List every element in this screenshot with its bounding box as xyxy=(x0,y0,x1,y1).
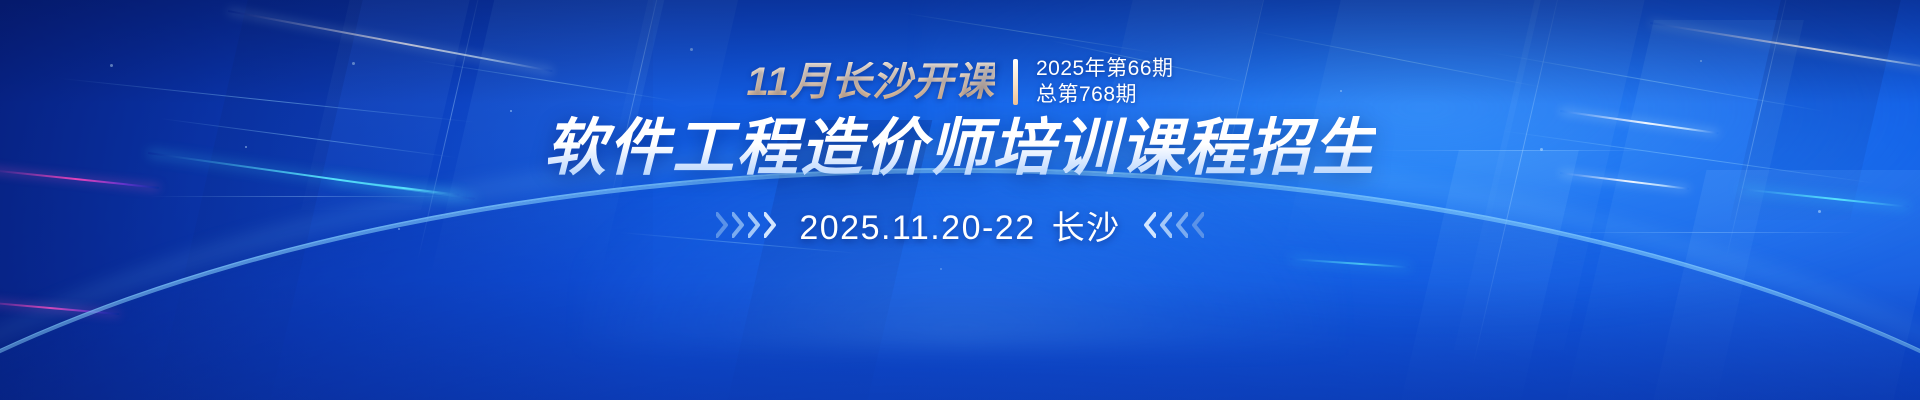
eyebrow-session-numbers: 2025年第66期 总第768期 xyxy=(1036,56,1174,107)
date-text-group: 2025.11.20-22 长沙 xyxy=(799,201,1120,249)
course-date: 2025.11.20-22 xyxy=(799,209,1035,248)
chevron-right-icon xyxy=(748,212,761,238)
date-location-row: »»»» 2025.11.20-22 长沙 «««« xyxy=(716,201,1203,249)
chevron-left-icon xyxy=(1191,212,1204,238)
chevron-right-icon xyxy=(716,212,729,238)
course-city: 长沙 xyxy=(1052,201,1121,249)
course-promo-banner: 11月长沙开课 2025年第66期 总第768期 软件工程造价师培训课程招生 xyxy=(0,0,1920,400)
eyebrow-divider xyxy=(1013,59,1018,105)
chevron-right-icon xyxy=(732,212,745,238)
eyebrow-year-session: 2025年第66期 xyxy=(1036,56,1174,82)
chevron-left-icon xyxy=(1159,212,1172,238)
eyebrow-total-session: 总第768期 xyxy=(1036,82,1174,108)
eyebrow-row: 11月长沙开课 2025年第66期 总第768期 xyxy=(746,56,1173,108)
chevron-left-icon xyxy=(1143,212,1156,238)
chevron-right-group: »»»» xyxy=(716,212,777,238)
banner-content: 11月长沙开课 2025年第66期 总第768期 软件工程造价师培训课程招生 xyxy=(0,0,1920,400)
chevron-right-icon xyxy=(764,212,777,238)
eyebrow-session-title: 11月长沙开课 xyxy=(746,62,995,102)
chevron-left-group: «««« xyxy=(1143,212,1204,238)
banner-headline: 软件工程造价师培训课程招生 xyxy=(544,114,1376,183)
chevron-left-icon xyxy=(1175,212,1188,238)
